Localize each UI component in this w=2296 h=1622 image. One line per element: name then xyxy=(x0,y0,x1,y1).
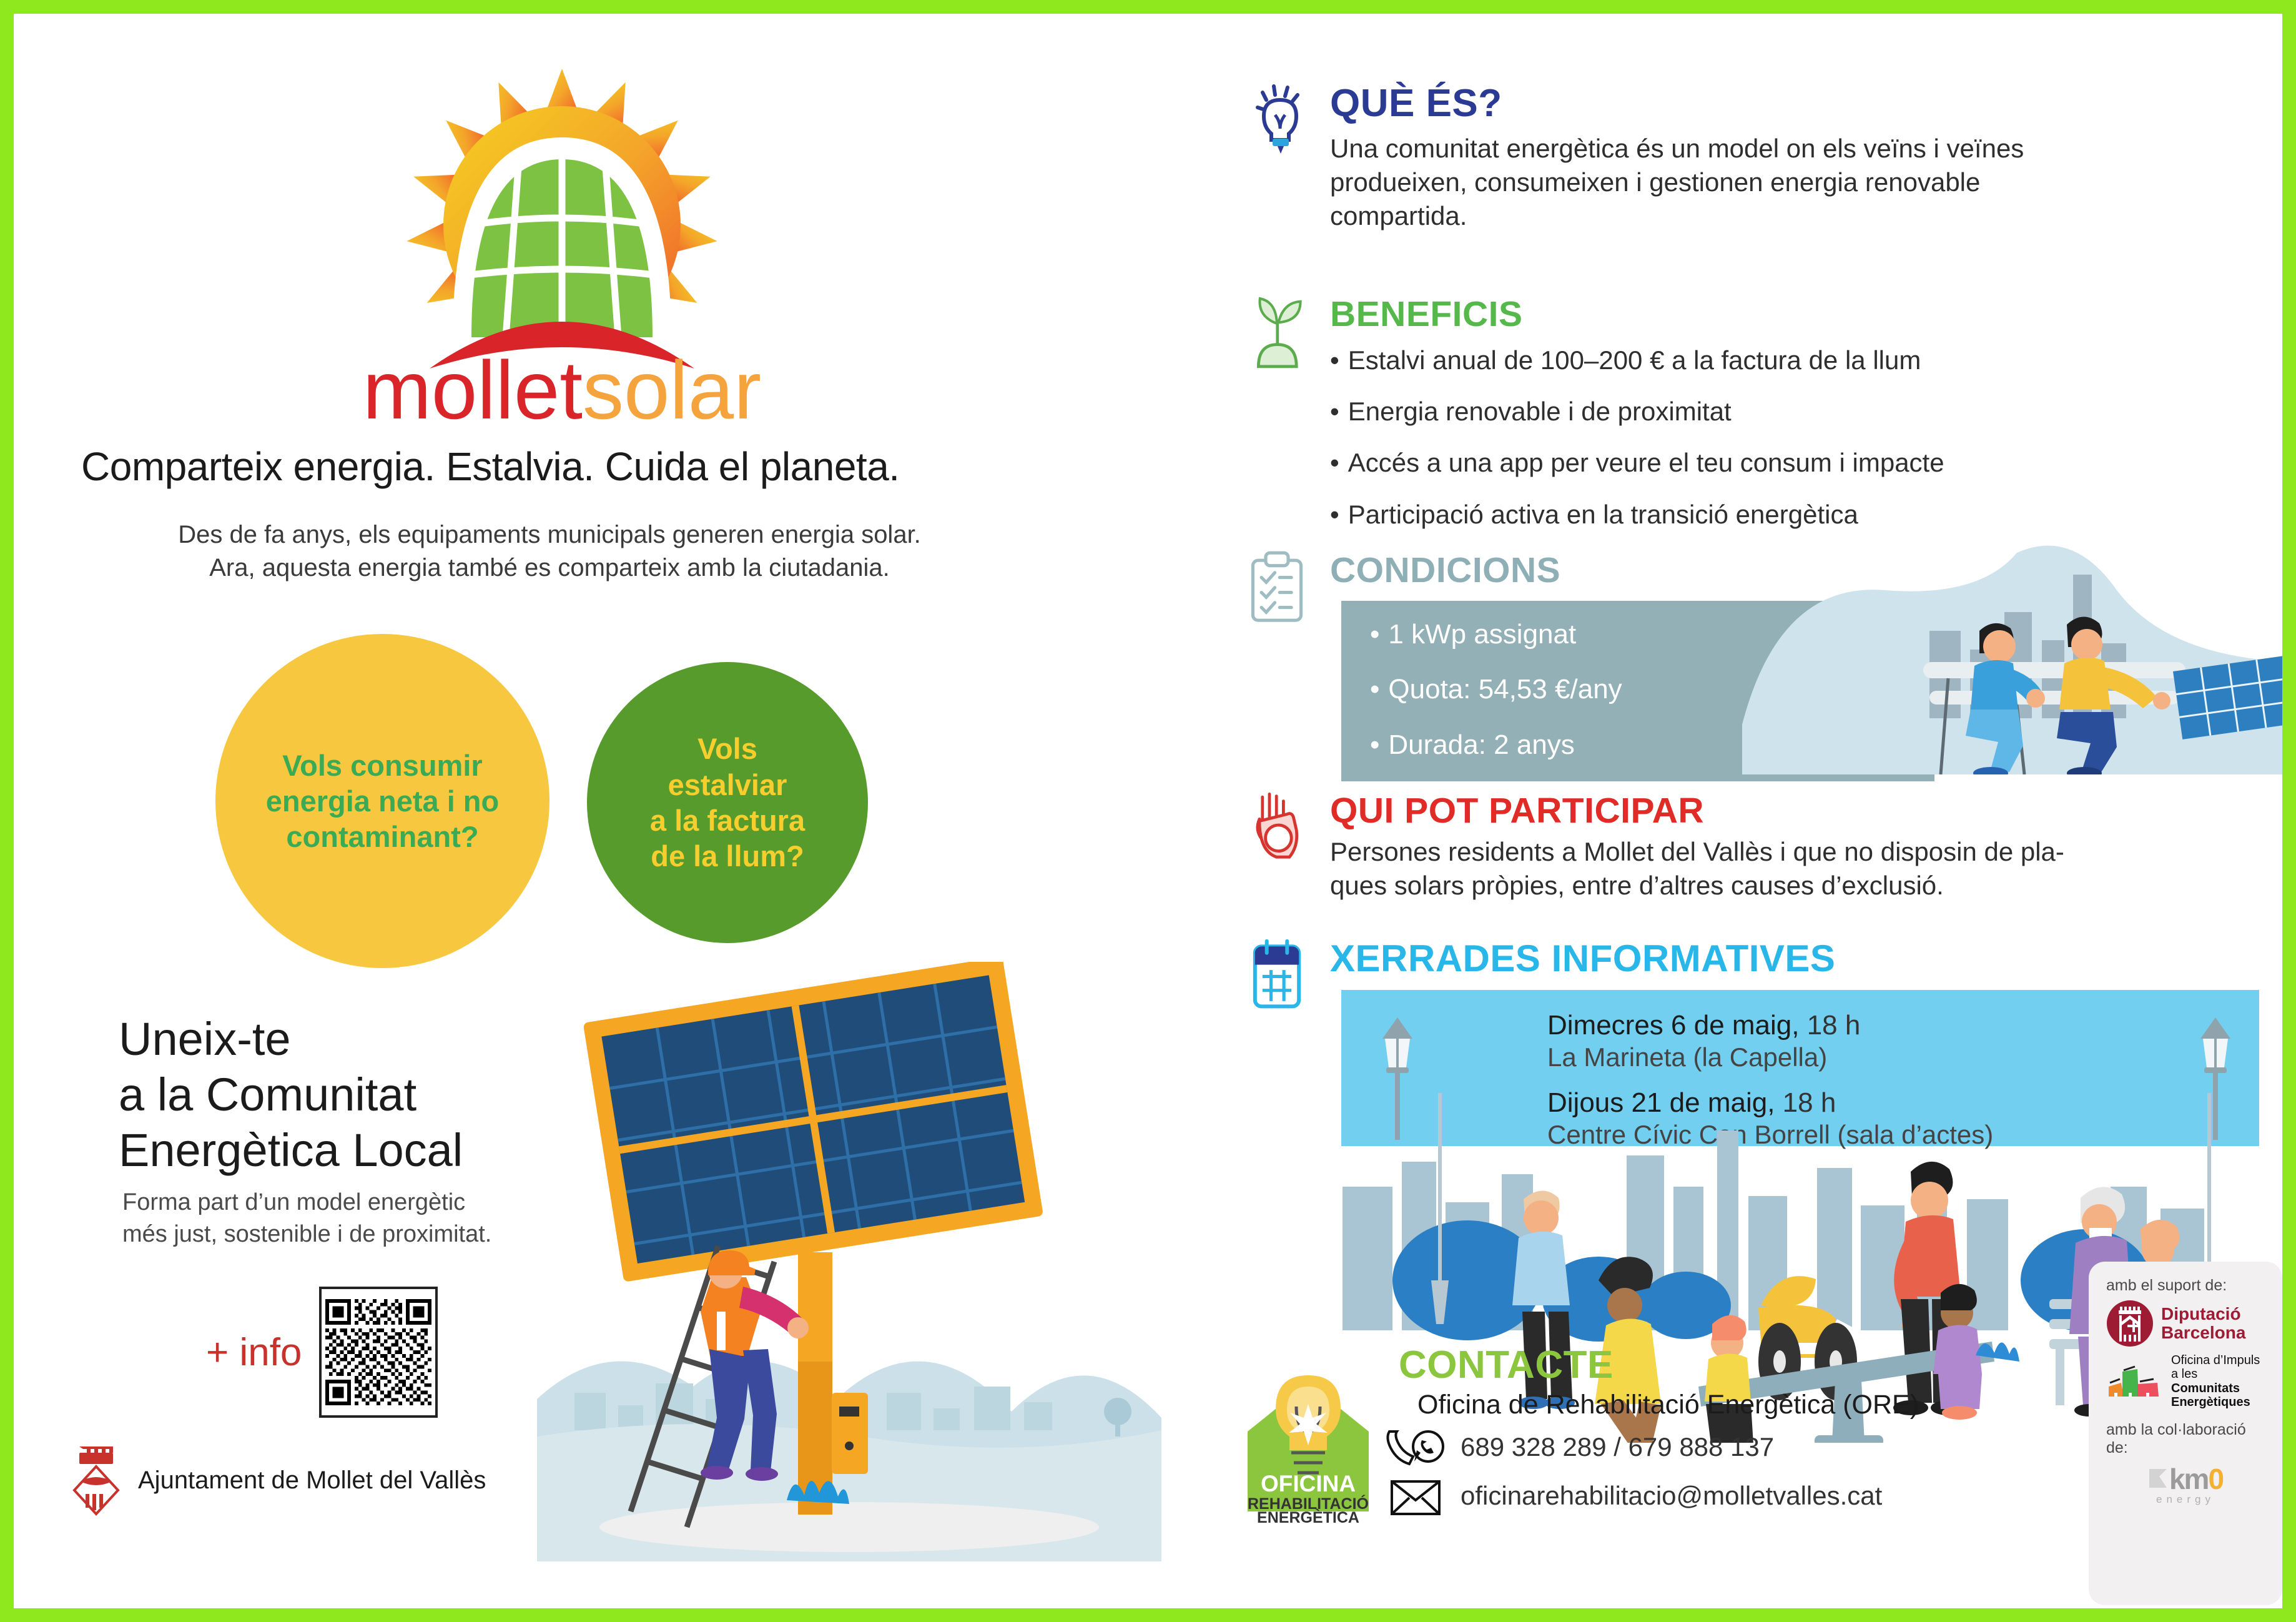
raised-hand-icon xyxy=(1243,790,1311,865)
km0-km-text: km xyxy=(2169,1462,2208,1496)
left-column: molletsolar Comparteix energia. Estalvia… xyxy=(0,0,1186,1622)
contact-email: oficinarehabilitacio@molletvalles.cat xyxy=(1461,1481,1882,1511)
sponsor-support-label: amb el suport de: xyxy=(2106,1277,2265,1295)
circle-green-line-2: estalviar xyxy=(650,767,805,803)
que-es-line-1: Una comunitat energètica és un model on … xyxy=(1330,132,2111,166)
diputacio-line-1: Diputació xyxy=(2161,1305,2245,1323)
poster-root: molletsolar Comparteix energia. Estalvia… xyxy=(0,0,2296,1622)
xerrada-1-time: 18 h xyxy=(1799,1010,1860,1041)
km0-zero-text: 0 xyxy=(2208,1462,2223,1496)
svg-text:molletsolar: molletsolar xyxy=(363,344,761,431)
km0-corner-shape xyxy=(2148,1466,2169,1491)
km0-energy-text: energy xyxy=(2106,1493,2265,1506)
solar-panel-illustration xyxy=(537,962,1161,1561)
sponsor-diputacio: Diputació Barcelona xyxy=(2106,1300,2265,1347)
solar-panel xyxy=(583,962,1043,1282)
que-es-line-3: compartida. xyxy=(1330,199,2111,233)
logo-word-mollet: mollet xyxy=(363,344,583,431)
heading-beneficis: BENEFICIS xyxy=(1330,294,2117,335)
section-que-es: QUÈ ÉS? Una comunitat energètica és un m… xyxy=(1249,81,2111,232)
heading-xerrades: XERRADES INFORMATIVES xyxy=(1330,937,2296,980)
xerrada-1-date: Dimecres 6 de maig, xyxy=(1547,1010,1799,1041)
sponsor-collab-label: amb la col·laboració de: xyxy=(2106,1421,2265,1457)
contact-phones: 689 328 289 / 679 888 137 xyxy=(1461,1432,1774,1462)
envelope-icon xyxy=(1383,1474,1448,1518)
heading-qui-pot: QUI POT PARTICIPAR xyxy=(1330,790,2117,831)
subtitle-line-1: Des de fa anys, els equipaments municipa… xyxy=(87,518,1012,551)
km0-energy-logo: km 0 energy xyxy=(2106,1462,2265,1506)
ajuntament-label: Ajuntament de Mollet del Vallès xyxy=(138,1466,486,1495)
couple-bench-illustration xyxy=(1742,537,2296,774)
contact-phone-row[interactable]: 689 328 289 / 679 888 137 xyxy=(1383,1425,2117,1469)
oficina-impuls-logo xyxy=(2106,1364,2164,1399)
qr-code-graphic xyxy=(325,1293,431,1412)
diputacio-line-2: Barcelona xyxy=(2161,1323,2245,1342)
question-circle-consum: Vols consumir energia neta i no contamin… xyxy=(215,634,549,968)
contact-email-row[interactable]: oficinarehabilitacio@molletvalles.cat xyxy=(1383,1474,2117,1518)
list-item: Participació activa en la transició ener… xyxy=(1330,500,2117,529)
inverter-box xyxy=(832,1393,868,1474)
xerrada-item-1: Dimecres 6 de maig, 18 h La Marineta (la… xyxy=(1547,1010,2259,1072)
phone-whatsapp-icon xyxy=(1383,1425,1448,1469)
sponsor-box: amb el suport de: xyxy=(2089,1262,2282,1605)
ajuntament-shield-icon xyxy=(72,1443,121,1518)
sprout-icon xyxy=(1243,294,1311,368)
lightbulb-icon xyxy=(1249,81,1318,156)
beneficis-list: Estalvi anual de 100–200 € a la factura … xyxy=(1330,346,2117,529)
diputacio-barcelona-logo xyxy=(2106,1300,2154,1347)
subtitle-line-2: Ara, aquesta energia també es comparteix… xyxy=(87,551,1012,585)
heading-que-es: QUÈ ÉS? xyxy=(1330,81,2111,126)
circle-green-line-4: de la llum? xyxy=(650,838,805,874)
more-info-row[interactable]: + info xyxy=(206,1287,438,1418)
mollet-solar-logo: molletsolar xyxy=(318,69,806,431)
xerrada-1-place: La Marineta (la Capella) xyxy=(1547,1042,2259,1072)
page-title: Comparteix energia. Estalvia. Cuida el p… xyxy=(81,443,1111,490)
right-column: QUÈ ÉS? Una comunitat energètica és un m… xyxy=(1224,0,2296,1622)
calendar-icon xyxy=(1243,937,1311,1012)
ore-logo: OFICINA REHABILITACIÓ ENERGÈTICA xyxy=(1243,1362,1374,1524)
circle-green-line-3: a la factura xyxy=(650,803,805,838)
page-subtitle: Des de fa anys, els equipaments municipa… xyxy=(87,518,1012,585)
oficina-impuls-line-2a: a les xyxy=(2171,1367,2197,1381)
circle-yellow-line-1: Vols consumir xyxy=(266,748,499,783)
section-contacte: OFICINA REHABILITACIÓ ENERGÈTICA CONTACT… xyxy=(1243,1343,2117,1518)
que-es-line-2: produeixen, consumeixen i gestionen ener… xyxy=(1330,166,2111,199)
contact-organisation: Oficina de Rehabilitació Energètica (ORE… xyxy=(1417,1390,2117,1420)
list-item: Accés a una app per veure el teu consum … xyxy=(1330,448,2117,477)
clipboard-checklist-icon xyxy=(1243,550,1311,625)
qr-code[interactable] xyxy=(319,1287,438,1418)
qui-pot-line-2: ques solars pròpies, entre d’altres caus… xyxy=(1330,869,2117,902)
heading-contacte: CONTACTE xyxy=(1399,1343,2117,1387)
section-qui-pot-participar: QUI POT PARTICIPAR Persones residents a … xyxy=(1243,790,2117,902)
body-qui-pot: Persones residents a Mollet del Vallès i… xyxy=(1330,835,2117,902)
circle-yellow-line-2: energia neta i no xyxy=(266,783,499,819)
ore-logo-line-1: OFICINA xyxy=(1261,1471,1356,1496)
circle-green-line-1: Vols xyxy=(650,731,805,766)
section-condicions: CONDICIONS 1 kWp assignat Quota: 54,53 €… xyxy=(1243,550,2292,781)
logo-word-solar: solar xyxy=(583,344,761,431)
oficina-impuls-line-1: Oficina d’Impuls xyxy=(2171,1353,2265,1367)
question-circle-estalvi: Vols estalviar a la factura de la llum? xyxy=(587,662,868,943)
body-que-es: Una comunitat energètica és un model on … xyxy=(1330,132,2111,232)
list-item: Energia renovable i de proximitat xyxy=(1330,397,2117,426)
ore-logo-line-3: ENERGÈTICA xyxy=(1257,1508,1359,1524)
oficina-impuls-line-2b: Comunitats xyxy=(2171,1382,2240,1395)
logo-graphic: molletsolar xyxy=(318,69,806,431)
qui-pot-line-1: Persones residents a Mollet del Vallès i… xyxy=(1330,835,2117,869)
oficina-impuls-line-3: Energètiques xyxy=(2171,1395,2250,1409)
list-item: Estalvi anual de 100–200 € a la factura … xyxy=(1330,346,2117,375)
ajuntament-footer: Ajuntament de Mollet del Vallès xyxy=(72,1443,486,1518)
sponsor-oficina-impuls: Oficina d’Impuls a les Comunitats Energè… xyxy=(2106,1353,2265,1410)
plus-info-label: + info xyxy=(206,1330,302,1375)
circle-yellow-line-3: contaminant? xyxy=(266,819,499,854)
section-beneficis: BENEFICIS Estalvi anual de 100–200 € a l… xyxy=(1243,294,2117,551)
